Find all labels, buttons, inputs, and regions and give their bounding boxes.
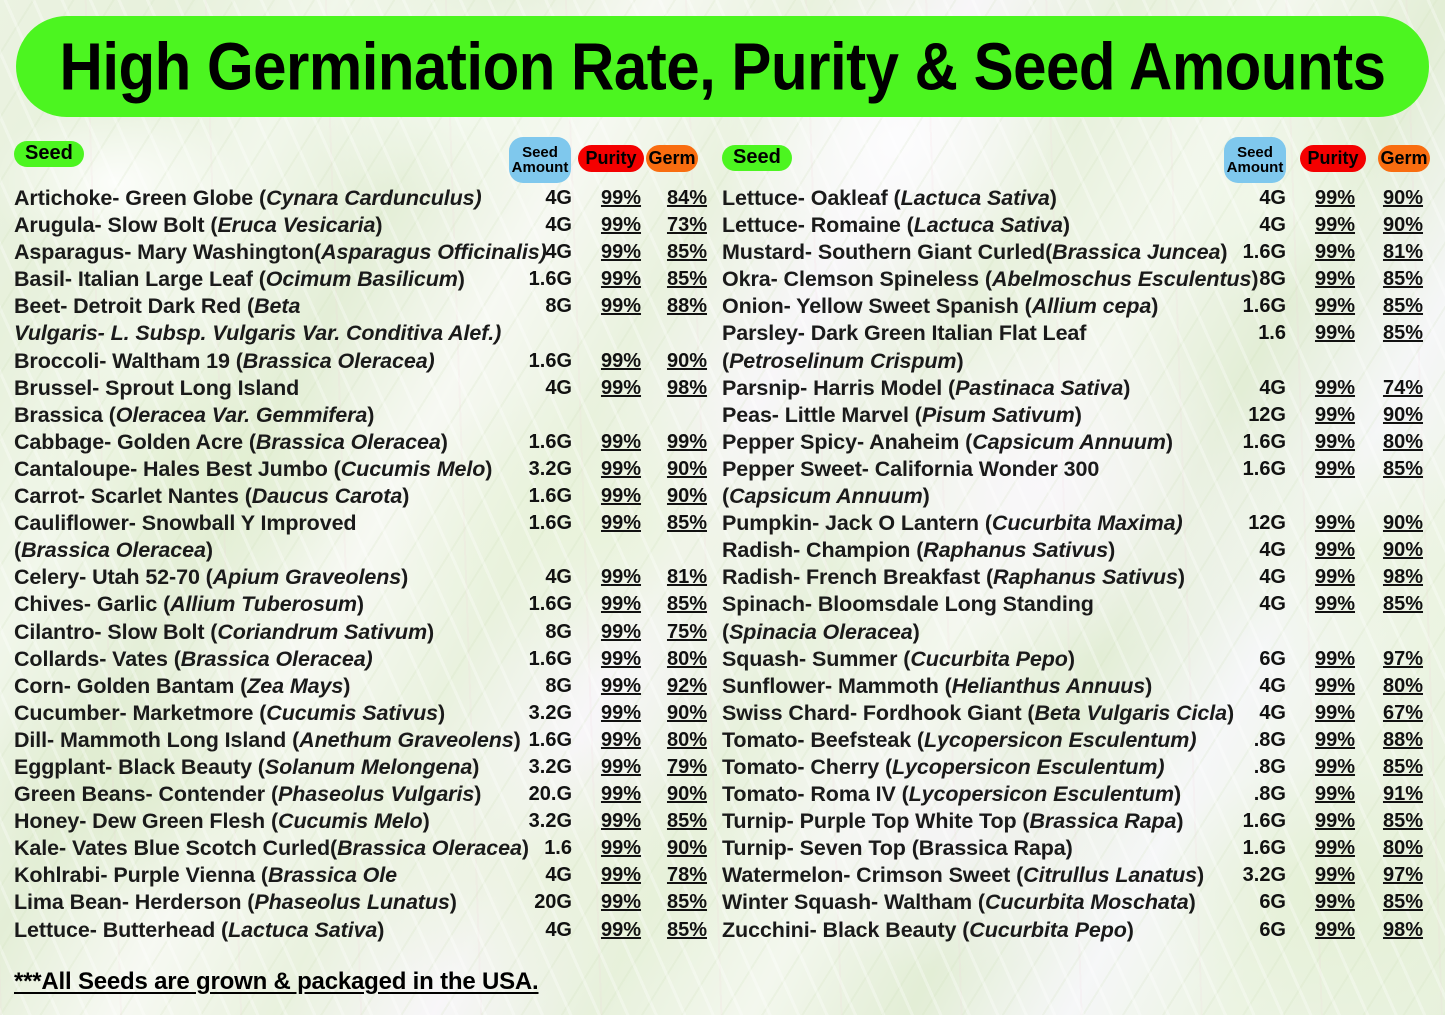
seed-name: Lima Bean- Herderson (Phaseolus Lunatus) [14,889,457,916]
table-row: (Spinacia Oleracea) [722,619,1437,646]
seed-purity-value: 99% [590,727,652,754]
seed-amount-value: 4G [506,862,572,889]
seed-amount-value: 4G [1220,673,1286,700]
seed-amount-value: 8G [506,673,572,700]
seed-germ-value: 84% [656,185,718,212]
table-row: (Brassica Oleracea) [14,537,714,564]
seed-name: Lettuce- Romaine (Lactuca Sativa) [722,212,1070,239]
seed-amount-value: 1.6G [506,429,572,456]
table-row: Lettuce- Romaine (Lactuca Sativa)4G99%90… [722,212,1437,239]
seed-purity-value: 99% [1304,700,1366,727]
seed-germ-value: 85% [1372,889,1434,916]
seed-germ-value: 73% [656,212,718,239]
table-row: Lettuce- Oakleaf (Lactuca Sativa)4G99%90… [722,185,1437,212]
seed-amount-value: 1.6 [1220,320,1286,347]
table-row: Tomato- Roma IV (Lycopersicon Esculentum… [722,781,1437,808]
seed-amount-value: 1.6G [506,510,572,537]
seed-name: Parsley- Dark Green Italian Flat Leaf [722,320,1086,347]
seed-name: Zucchini- Black Beauty (Cucurbita Pepo) [722,917,1134,944]
seed-purity-value: 99% [1304,673,1366,700]
seed-germ-value: 90% [656,456,718,483]
header-pill-seed-right: Seed [722,145,792,171]
seed-purity-value: 99% [1304,266,1366,293]
seed-amount-value: 12G [1220,402,1286,429]
seed-germ-value: 78% [656,862,718,889]
seed-germ-value: 85% [656,889,718,916]
seed-name: Cauliflower- Snowball Y Improved [14,510,356,537]
seed-germ-value: 90% [1372,402,1434,429]
seed-germ-value: 80% [1372,429,1434,456]
table-row: Brussel- Sprout Long Island4G99%98% [14,375,714,402]
seed-purity-value: 99% [590,348,652,375]
seed-name: Watermelon- Crimson Sweet (Citrullus Lan… [722,862,1204,889]
seed-purity-value: 99% [590,754,652,781]
table-row: Turnip- Purple Top White Top (Brassica R… [722,808,1437,835]
table-row: Broccoli- Waltham 19 (Brassica Oleracea)… [14,348,714,375]
seed-name: Sunflower- Mammoth (Helianthus Annuus) [722,673,1152,700]
seed-purity-value: 99% [1304,781,1366,808]
seed-amount-value: .8G [1220,754,1286,781]
seed-germ-value: 85% [656,917,718,944]
seed-name: Parsnip- Harris Model (Pastinaca Sativa) [722,375,1130,402]
table-row: Asparagus- Mary Washington(Asparagus Off… [14,239,714,266]
table-row: Honey- Dew Green Flesh (Cucumis Melo)3.2… [14,808,714,835]
seed-name: Turnip- Purple Top White Top (Brassica R… [722,808,1183,835]
seed-purity-value: 99% [1304,320,1366,347]
table-row: Tomato- Cherry (Lycopersicon Esculentum)… [722,754,1437,781]
table-row: Parsnip- Harris Model (Pastinaca Sativa)… [722,375,1437,402]
table-row: Peas- Little Marvel (Pisum Sativum)12G99… [722,402,1437,429]
seed-amount-value: 1.6G [1220,293,1286,320]
table-row: Celery- Utah 52-70 (Apium Graveolens)4G9… [14,564,714,591]
seed-purity-value: 99% [590,673,652,700]
seed-purity-value: 99% [1304,456,1366,483]
seed-amount-value: 1.6G [506,591,572,618]
seed-name: Spinach- Bloomsdale Long Standing [722,591,1094,618]
seed-name: Cucumber- Marketmore (Cucumis Sativus) [14,700,445,727]
seed-germ-value: 90% [656,835,718,862]
header-pill-seed-left: Seed [14,141,84,167]
seed-name: Radish- Champion (Raphanus Sativus) [722,537,1115,564]
table-row: Carrot- Scarlet Nantes (Daucus Carota)1.… [14,483,714,510]
table-row: Kohlrabi- Purple Vienna (Brassica Ole4G9… [14,862,714,889]
seed-purity-value: 99% [1304,727,1366,754]
seed-name: (Capsicum Annuum) [722,483,930,510]
seed-purity-value: 99% [590,889,652,916]
header-seed-amount-line1: Seed [522,145,558,160]
seed-purity-value: 99% [1304,185,1366,212]
seed-amount-value: 4G [1220,185,1286,212]
seed-purity-value: 99% [1304,537,1366,564]
seed-purity-value: 99% [590,646,652,673]
seed-amount-value: 4G [1220,591,1286,618]
seed-name: Green Beans- Contender (Phaseolus Vulgar… [14,781,481,808]
seed-germ-value: 85% [656,591,718,618]
seed-purity-value: 99% [1304,591,1366,618]
seed-amount-value: 1.6G [1220,239,1286,266]
seed-name: Dill- Mammoth Long Island (Anethum Grave… [14,727,521,754]
seed-germ-value: 85% [656,239,718,266]
seed-purity-value: 99% [590,917,652,944]
table-row: Watermelon- Crimson Sweet (Citrullus Lan… [722,862,1437,889]
seed-amount-value: 4G [506,239,572,266]
seed-purity-value: 99% [1304,510,1366,537]
seed-name: Onion- Yellow Sweet Spanish (Allium cepa… [722,293,1158,320]
seed-germ-value: 90% [1372,510,1434,537]
seed-germ-value: 67% [1372,700,1434,727]
seed-name: Tomato- Cherry (Lycopersicon Esculentum) [722,754,1164,781]
seed-amount-value: 6G [1220,646,1286,673]
seed-germ-value: 90% [656,700,718,727]
table-row: Lettuce- Butterhead (Lactuca Sativa)4G99… [14,917,714,944]
seed-germ-value: 80% [1372,673,1434,700]
header-pill-purity-right: Purity [1300,145,1366,172]
seed-amount-value: 1.6G [1220,808,1286,835]
seed-amount-value: 1.6G [1220,835,1286,862]
seed-purity-value: 99% [1304,754,1366,781]
seed-germ-value: 85% [1372,591,1434,618]
seed-germ-value: 99% [656,429,718,456]
seed-name: Peas- Little Marvel (Pisum Sativum) [722,402,1082,429]
seed-germ-value: 85% [1372,293,1434,320]
seed-amount-value: 4G [506,564,572,591]
header-pill-seed-amount-right: Seed Amount [1224,137,1286,183]
seed-purity-value: 99% [590,700,652,727]
seed-amount-value: 1.6G [1220,429,1286,456]
seed-name: Kohlrabi- Purple Vienna (Brassica Ole [14,862,397,889]
table-row: Swiss Chard- Fordhook Giant (Beta Vulgar… [722,700,1437,727]
header-pill-germ-left: Germ [646,145,698,172]
seed-amount-value: 1.6G [506,727,572,754]
table-row: Collards- Vates (Brassica Oleracea)1.6G9… [14,646,714,673]
seed-name: Winter Squash- Waltham (Cucurbita Moscha… [722,889,1196,916]
seed-germ-value: 98% [656,375,718,402]
table-row: Artichoke- Green Globe (Cynara Carduncul… [14,185,714,212]
seed-germ-value: 80% [656,727,718,754]
header-pill-seed-amount-left: Seed Amount [509,137,571,183]
seed-name: Cilantro- Slow Bolt (Coriandrum Sativum) [14,619,434,646]
table-row: Parsley- Dark Green Italian Flat Leaf1.6… [722,320,1437,347]
title-banner: High Germination Rate, Purity & Seed Amo… [16,16,1429,117]
seed-amount-value: 4G [1220,212,1286,239]
seed-purity-value: 99% [590,293,652,320]
seed-purity-value: 99% [1304,646,1366,673]
seed-name: Swiss Chard- Fordhook Giant (Beta Vulgar… [722,700,1234,727]
seed-purity-value: 99% [1304,429,1366,456]
seed-germ-value: 88% [656,293,718,320]
seed-name: Pepper Spicy- Anaheim (Capsicum Annuum) [722,429,1173,456]
seed-germ-value: 97% [1372,862,1434,889]
seed-germ-value: 90% [1372,185,1434,212]
table-row: Brassica (Oleracea Var. Gemmifera) [14,402,714,429]
table-row: Mustard- Southern Giant Curled(Brassica … [722,239,1437,266]
seed-purity-value: 99% [1304,239,1366,266]
seed-name: Brassica (Oleracea Var. Gemmifera) [14,402,374,429]
table-row: (Petroselinum Crispum) [722,348,1437,375]
seed-purity-value: 99% [1304,889,1366,916]
seed-purity-value: 99% [1304,862,1366,889]
seed-name: Okra- Clemson Spineless (Abelmoschus Esc… [722,266,1258,293]
table-row: Pepper Sweet- California Wonder 3001.6G9… [722,456,1437,483]
seed-name: Radish- French Breakfast (Raphanus Sativ… [722,564,1185,591]
seed-amount-value: 3.2G [1220,862,1286,889]
seed-germ-value: 97% [1372,646,1434,673]
table-row: Pumpkin- Jack O Lantern (Cucurbita Maxim… [722,510,1437,537]
header-seed-amount-line2: Amount [512,160,569,175]
seed-amount-value: 1.6G [506,266,572,293]
table-row: Cilantro- Slow Bolt (Coriandrum Sativum)… [14,619,714,646]
table-row: Turnip- Seven Top (Brassica Rapa)1.6G99%… [722,835,1437,862]
seed-germ-value: 85% [1372,808,1434,835]
seed-name: (Brassica Oleracea) [14,537,213,564]
table-row: Winter Squash- Waltham (Cucurbita Moscha… [722,889,1437,916]
seed-name: Chives- Garlic (Allium Tuberosum) [14,591,364,618]
seed-name: Mustard- Southern Giant Curled(Brassica … [722,239,1227,266]
seed-amount-value: 1.6 [506,835,572,862]
table-row: Radish- French Breakfast (Raphanus Sativ… [722,564,1437,591]
table-row: Arugula- Slow Bolt (Eruca Vesicaria)4G99… [14,212,714,239]
seed-purity-value: 99% [1304,375,1366,402]
seed-name: Beet- Detroit Dark Red (Beta [14,293,300,320]
seed-amount-value: 8G [1220,266,1286,293]
seed-name: Tomato- Roma IV (Lycopersicon Esculentum… [722,781,1181,808]
table-row: Dill- Mammoth Long Island (Anethum Grave… [14,727,714,754]
seed-germ-value: 85% [656,808,718,835]
seed-germ-value: 98% [1372,917,1434,944]
table-row: (Capsicum Annuum) [722,483,1437,510]
table-row: Onion- Yellow Sweet Spanish (Allium cepa… [722,293,1437,320]
seed-purity-value: 99% [1304,917,1366,944]
seed-germ-value: 85% [1372,266,1434,293]
seed-germ-value: 90% [1372,212,1434,239]
seed-germ-value: 85% [1372,754,1434,781]
seed-purity-value: 99% [590,619,652,646]
header-pill-germ-right: Germ [1378,145,1430,172]
seed-purity-value: 99% [1304,808,1366,835]
seed-name: Brussel- Sprout Long Island [14,375,299,402]
seed-amount-value: 20G [506,889,572,916]
seed-table-right: Lettuce- Oakleaf (Lactuca Sativa)4G99%90… [722,185,1437,944]
page-title: High Germination Rate, Purity & Seed Amo… [60,28,1386,105]
seed-amount-value: 4G [1220,537,1286,564]
seed-purity-value: 99% [590,808,652,835]
seed-name: Vulgaris- L. Subsp. Vulgaris Var. Condit… [14,320,501,347]
seed-amount-value: 4G [1220,564,1286,591]
seed-purity-value: 99% [590,375,652,402]
seed-purity-value: 99% [590,266,652,293]
seed-name: Lettuce- Butterhead (Lactuca Sativa) [14,917,384,944]
seed-purity-value: 99% [590,564,652,591]
seed-purity-value: 99% [590,591,652,618]
seed-name: Tomato- Beefsteak (Lycopersicon Esculent… [722,727,1196,754]
table-row: Eggplant- Black Beauty (Solanum Melongen… [14,754,714,781]
seed-amount-value: 4G [506,185,572,212]
header-pill-purity-left: Purity [578,145,644,172]
table-row: Kale- Vates Blue Scotch Curled(Brassica … [14,835,714,862]
seed-germ-value: 79% [656,754,718,781]
table-row: Pepper Spicy- Anaheim (Capsicum Annuum)1… [722,429,1437,456]
seed-amount-value: 3.2G [506,700,572,727]
seed-name: (Petroselinum Crispum) [722,348,964,375]
table-row: Spinach- Bloomsdale Long Standing4G99%85… [722,591,1437,618]
seed-purity-value: 99% [590,239,652,266]
seed-name: Pumpkin- Jack O Lantern (Cucurbita Maxim… [722,510,1183,537]
seed-germ-value: 85% [656,266,718,293]
seed-germ-value: 85% [1372,320,1434,347]
seed-amount-value: .8G [1220,727,1286,754]
seed-name: Pepper Sweet- California Wonder 300 [722,456,1099,483]
seed-amount-value: 4G [1220,375,1286,402]
seed-germ-value: 80% [656,646,718,673]
seed-germ-value: 91% [1372,781,1434,808]
seed-germ-value: 90% [656,348,718,375]
seed-purity-value: 99% [590,185,652,212]
seed-name: (Spinacia Oleracea) [722,619,920,646]
seed-purity-value: 99% [590,456,652,483]
seed-name: Cabbage- Golden Acre (Brassica Oleracea) [14,429,448,456]
seed-name: Honey- Dew Green Flesh (Cucumis Melo) [14,808,430,835]
seed-amount-value: 6G [1220,917,1286,944]
header-seed-amount-line1: Seed [1237,145,1273,160]
seed-germ-value: 90% [1372,537,1434,564]
seed-name: Collards- Vates (Brassica Oleracea) [14,646,373,673]
table-row: Okra- Clemson Spineless (Abelmoschus Esc… [722,266,1437,293]
seed-name: Lettuce- Oakleaf (Lactuca Sativa) [722,185,1057,212]
seed-amount-value: 6G [1220,889,1286,916]
seed-table-left: Artichoke- Green Globe (Cynara Carduncul… [14,185,714,944]
seed-purity-value: 99% [1304,564,1366,591]
seed-amount-value: 3.2G [506,808,572,835]
seed-purity-value: 99% [590,862,652,889]
seed-purity-value: 99% [590,429,652,456]
seed-amount-value: 4G [1220,700,1286,727]
seed-germ-value: 92% [656,673,718,700]
seed-germ-value: 88% [1372,727,1434,754]
seed-name: Cantaloupe- Hales Best Jumbo (Cucumis Me… [14,456,492,483]
table-row: Radish- Champion (Raphanus Sativus)4G99%… [722,537,1437,564]
seed-purity-value: 99% [590,483,652,510]
table-row: Cantaloupe- Hales Best Jumbo (Cucumis Me… [14,456,714,483]
seed-name: Celery- Utah 52-70 (Apium Graveolens) [14,564,408,591]
seed-germ-value: 90% [656,781,718,808]
table-row: Beet- Detroit Dark Red (Beta8G99%88% [14,293,714,320]
seed-amount-value: .8G [1220,781,1286,808]
seed-amount-value: 3.2G [506,754,572,781]
seed-amount-value: 1.6G [506,483,572,510]
header-seed-amount-line2: Amount [1227,160,1284,175]
table-row: Sunflower- Mammoth (Helianthus Annuus)4G… [722,673,1437,700]
table-row: Basil- Italian Large Leaf (Ocimum Basili… [14,266,714,293]
table-row: Vulgaris- L. Subsp. Vulgaris Var. Condit… [14,320,714,347]
seed-name: Corn- Golden Bantam (Zea Mays) [14,673,350,700]
table-row: Cauliflower- Snowball Y Improved1.6G99%8… [14,510,714,537]
seed-amount-value: 4G [506,375,572,402]
seed-amount-value: 3.2G [506,456,572,483]
seed-name: Broccoli- Waltham 19 (Brassica Oleracea) [14,348,435,375]
seed-name: Arugula- Slow Bolt (Eruca Vesicaria) [14,212,382,239]
table-row: Lima Bean- Herderson (Phaseolus Lunatus)… [14,889,714,916]
table-row: Corn- Golden Bantam (Zea Mays)8G99%92% [14,673,714,700]
seed-purity-value: 99% [590,510,652,537]
seed-germ-value: 81% [656,564,718,591]
table-row: Tomato- Beefsteak (Lycopersicon Esculent… [722,727,1437,754]
seed-germ-value: 85% [656,510,718,537]
seed-spec-poster: High Germination Rate, Purity & Seed Amo… [0,0,1445,1015]
seed-purity-value: 99% [590,212,652,239]
seed-amount-value: 12G [1220,510,1286,537]
seed-purity-value: 99% [1304,835,1366,862]
seed-amount-value: 1.6G [506,348,572,375]
seed-purity-value: 99% [590,781,652,808]
seed-amount-value: 8G [506,619,572,646]
seed-purity-value: 99% [1304,402,1366,429]
seed-name: Eggplant- Black Beauty (Solanum Melongen… [14,754,479,781]
seed-amount-value: 8G [506,293,572,320]
seed-name: Kale- Vates Blue Scotch Curled(Brassica … [14,835,529,862]
table-row: Green Beans- Contender (Phaseolus Vulgar… [14,781,714,808]
seed-germ-value: 74% [1372,375,1434,402]
seed-name: Asparagus- Mary Washington(Asparagus Off… [14,239,547,266]
table-row: Zucchini- Black Beauty (Cucurbita Pepo)6… [722,917,1437,944]
seed-purity-value: 99% [1304,212,1366,239]
seed-purity-value: 99% [1304,293,1366,320]
seed-germ-value: 81% [1372,239,1434,266]
seed-amount-value: 4G [506,212,572,239]
table-row: Squash- Summer (Cucurbita Pepo)6G99%97% [722,646,1437,673]
table-row: Chives- Garlic (Allium Tuberosum)1.6G99%… [14,591,714,618]
usa-disclaimer: ***All Seeds are grown & packaged in the… [14,968,539,996]
seed-purity-value: 99% [590,835,652,862]
seed-germ-value: 85% [1372,456,1434,483]
seed-amount-value: 4G [506,917,572,944]
seed-amount-value: 1.6G [1220,456,1286,483]
seed-germ-value: 98% [1372,564,1434,591]
seed-germ-value: 80% [1372,835,1434,862]
seed-amount-value: 1.6G [506,646,572,673]
seed-germ-value: 90% [656,483,718,510]
seed-name: Turnip- Seven Top (Brassica Rapa) [722,835,1073,862]
seed-name: Artichoke- Green Globe (Cynara Carduncul… [14,185,482,212]
seed-name: Basil- Italian Large Leaf (Ocimum Basili… [14,266,465,293]
table-row: Cabbage- Golden Acre (Brassica Oleracea)… [14,429,714,456]
table-row: Cucumber- Marketmore (Cucumis Sativus)3.… [14,700,714,727]
seed-name: Squash- Summer (Cucurbita Pepo) [722,646,1075,673]
seed-amount-value: 20.G [506,781,572,808]
seed-name: Carrot- Scarlet Nantes (Daucus Carota) [14,483,409,510]
seed-germ-value: 75% [656,619,718,646]
